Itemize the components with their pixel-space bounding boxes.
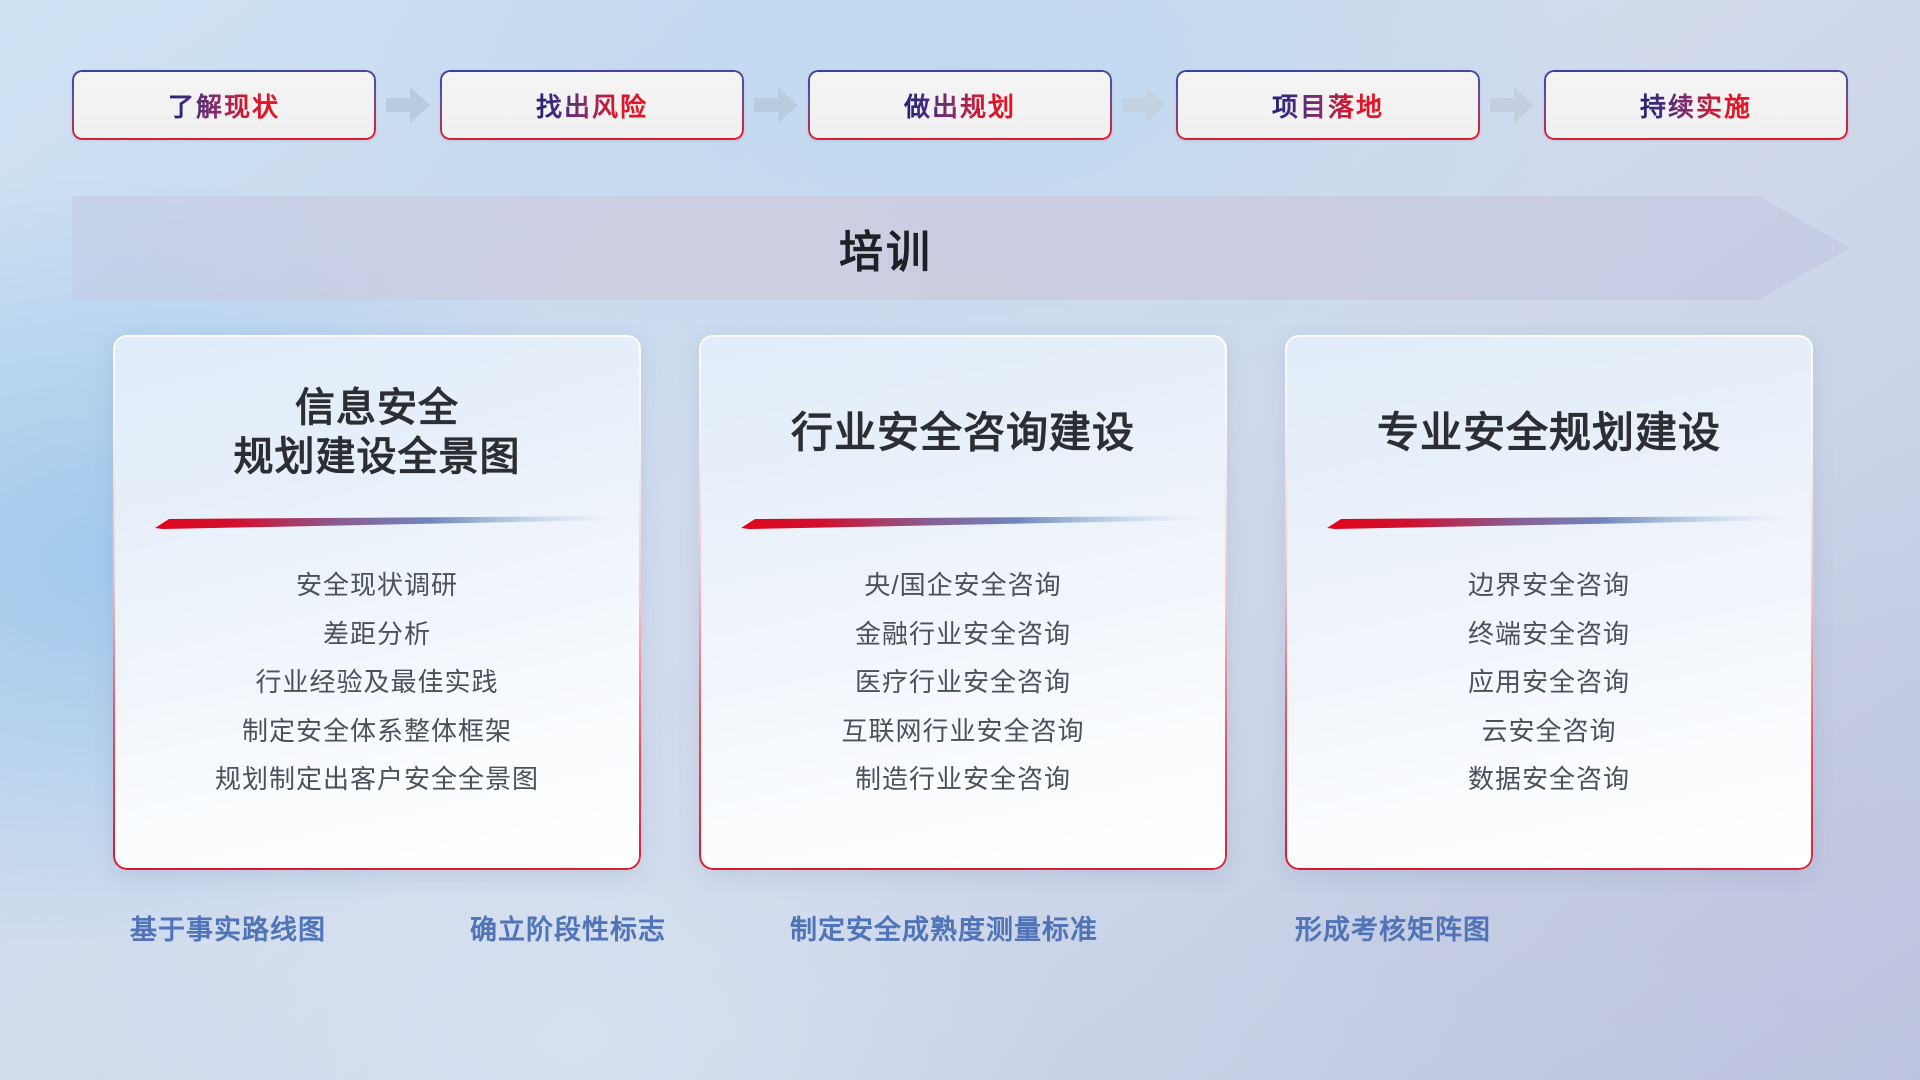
card-title: 信息安全 规划建设全景图	[147, 377, 607, 489]
banner-title: 培训	[72, 196, 1850, 300]
card-item-list: 安全现状调研 差距分析 行业经验及最佳实践 制定安全体系整体框架 规划制定出客户…	[147, 565, 607, 801]
process-steps-row: 了解现状 找出风险 做出规划 项目落地 持续实施	[72, 68, 1848, 142]
card-item-list: 边界安全咨询 终端安全咨询 应用安全咨询 云安全咨询 数据安全咨询	[1319, 565, 1779, 801]
capability-card-0[interactable]: 信息安全 规划建设全景图	[113, 335, 641, 870]
arrow-right-icon	[744, 68, 808, 142]
list-item: 应用安全咨询	[1468, 662, 1630, 704]
footer-label-1: 确立阶段性标志	[470, 908, 666, 947]
step-button-1[interactable]: 找出风险	[440, 70, 744, 140]
card-divider	[733, 515, 1193, 531]
step-label: 项目落地	[1272, 87, 1384, 124]
footer-labels-row: 基于事实路线图 确立阶段性标志 制定安全成熟度测量标准 形成考核矩阵图	[0, 908, 1920, 968]
card-divider	[1319, 515, 1779, 531]
list-item: 规划制定出客户安全全景图	[215, 759, 539, 801]
step-label: 了解现状	[168, 87, 280, 124]
list-item: 制定安全体系整体框架	[242, 711, 512, 753]
step-button-4[interactable]: 持续实施	[1544, 70, 1848, 140]
training-banner: 培训	[72, 196, 1850, 300]
step-button-3[interactable]: 项目落地	[1176, 70, 1480, 140]
step-label: 找出风险	[536, 87, 648, 124]
capability-card-2[interactable]: 专业安全规划建设	[1285, 335, 1813, 870]
capability-card-1[interactable]: 行业安全咨询建设	[699, 335, 1227, 870]
capability-cards: 信息安全 规划建设全景图	[113, 335, 1813, 870]
arrow-right-icon	[1112, 68, 1176, 142]
list-item: 央/国企安全咨询	[864, 565, 1061, 607]
card-title: 专业安全规划建设	[1319, 377, 1779, 489]
list-item: 制造行业安全咨询	[855, 759, 1071, 801]
card-title-line: 专业安全规划建设	[1377, 407, 1721, 458]
footer-label-2: 制定安全成熟度测量标准	[790, 908, 1098, 947]
list-item: 金融行业安全咨询	[855, 614, 1071, 656]
footer-label-0: 基于事实路线图	[130, 908, 326, 947]
step-button-2[interactable]: 做出规划	[808, 70, 1112, 140]
list-item: 行业经验及最佳实践	[255, 662, 498, 704]
card-divider	[147, 515, 607, 531]
card-item-list: 央/国企安全咨询 金融行业安全咨询 医疗行业安全咨询 互联网行业安全咨询 制造行…	[733, 565, 1193, 801]
card-title-line: 行业安全咨询建设	[791, 407, 1135, 458]
list-item: 差距分析	[323, 614, 431, 656]
list-item: 互联网行业安全咨询	[841, 711, 1084, 753]
list-item: 数据安全咨询	[1468, 759, 1630, 801]
arrow-right-icon	[1480, 68, 1544, 142]
card-title-line: 规划建设全景图	[234, 433, 521, 482]
footer-label-3: 形成考核矩阵图	[1295, 908, 1491, 947]
arrow-right-icon	[376, 68, 440, 142]
card-title-line: 信息安全	[234, 384, 521, 433]
list-item: 医疗行业安全咨询	[855, 662, 1071, 704]
step-label: 持续实施	[1640, 87, 1752, 124]
step-label: 做出规划	[904, 87, 1016, 124]
list-item: 终端安全咨询	[1468, 614, 1630, 656]
step-button-0[interactable]: 了解现状	[72, 70, 376, 140]
card-title: 行业安全咨询建设	[733, 377, 1193, 489]
list-item: 云安全咨询	[1481, 711, 1616, 753]
list-item: 安全现状调研	[296, 565, 458, 607]
list-item: 边界安全咨询	[1468, 565, 1630, 607]
